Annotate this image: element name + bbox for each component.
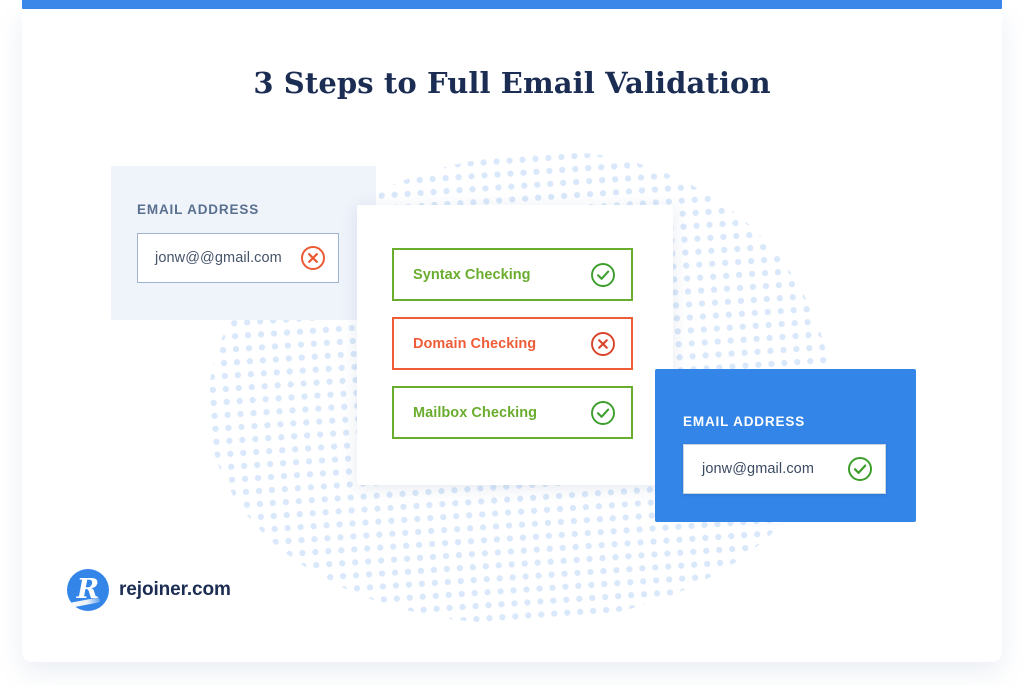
invalid-email-value: jonw@@gmail.com	[155, 250, 300, 266]
invalid-email-input[interactable]: jonw@@gmail.com	[137, 233, 339, 283]
check-circle-icon	[590, 262, 616, 288]
check-circle-icon	[847, 456, 873, 482]
check-row-label: Domain Checking	[413, 336, 590, 352]
valid-email-card: EMAIL ADDRESS jonw@gmail.com	[655, 369, 916, 522]
validation-checks-card: Syntax Checking Domain Checking	[357, 205, 673, 485]
invalid-email-label: EMAIL ADDRESS	[137, 202, 259, 217]
rejoiner-logo-icon: R	[67, 569, 109, 611]
check-row[interactable]: Mailbox Checking	[392, 386, 633, 439]
page-root: 3 Steps to Full Email Validation EMAIL A…	[0, 0, 1024, 686]
top-accent-bar	[22, 0, 1002, 9]
valid-email-label: EMAIL ADDRESS	[683, 414, 805, 429]
valid-email-input[interactable]: jonw@gmail.com	[683, 444, 886, 494]
invalid-email-card: EMAIL ADDRESS jonw@@gmail.com	[111, 166, 376, 320]
x-circle-icon	[300, 245, 326, 271]
brand-logo[interactable]: R rejoiner.com	[67, 569, 231, 611]
logo-swoosh	[70, 597, 100, 608]
check-row[interactable]: Domain Checking	[392, 317, 633, 370]
check-circle-icon	[590, 400, 616, 426]
content-panel: 3 Steps to Full Email Validation EMAIL A…	[22, 9, 1002, 662]
brand-name: rejoiner.com	[119, 579, 231, 601]
x-circle-icon	[590, 331, 616, 357]
check-row[interactable]: Syntax Checking	[392, 248, 633, 301]
check-row-label: Syntax Checking	[413, 267, 590, 283]
valid-email-value: jonw@gmail.com	[702, 461, 847, 477]
page-title: 3 Steps to Full Email Validation	[22, 66, 1002, 100]
check-row-label: Mailbox Checking	[413, 405, 590, 421]
